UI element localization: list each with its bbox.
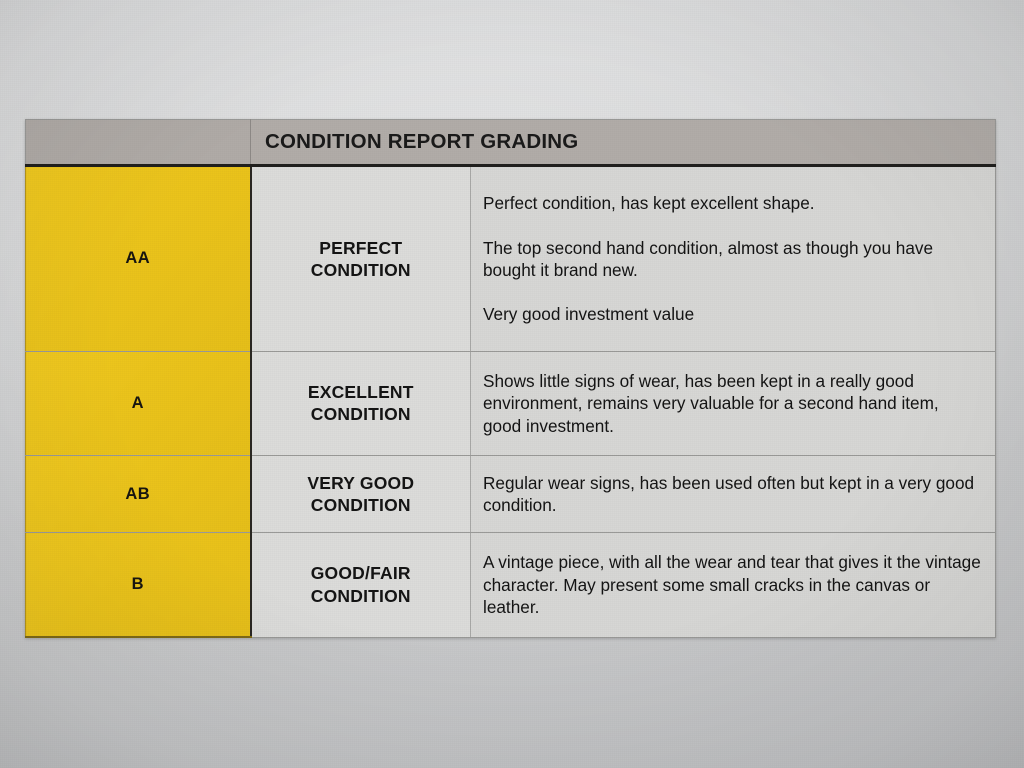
grade-badge-a: A xyxy=(26,351,251,455)
table-body: AA PERFECT CONDITION Perfect condition, … xyxy=(26,166,996,638)
condition-name-a: EXCELLENT CONDITION xyxy=(251,351,471,455)
description-b: A vintage piece, with all the wear and t… xyxy=(471,533,996,637)
table-row-ab: AB VERY GOOD CONDITION Regular wear sign… xyxy=(26,456,996,533)
header-grade-column-blank xyxy=(26,120,251,166)
grade-badge-ab: AB xyxy=(26,456,251,533)
description-b-paragraph-1: A vintage piece, with all the wear and t… xyxy=(483,551,981,618)
description-a: Shows little signs of wear, has been kep… xyxy=(471,351,996,455)
condition-name-aa: PERFECT CONDITION xyxy=(251,166,471,352)
table-row-b: B GOOD/FAIR CONDITION A vintage piece, w… xyxy=(26,533,996,637)
table-row-aa: AA PERFECT CONDITION Perfect condition, … xyxy=(26,166,996,352)
condition-name-b-line1: GOOD/FAIR xyxy=(252,562,471,584)
description-aa-paragraph-1: Perfect condition, has kept excellent sh… xyxy=(483,192,981,214)
grade-badge-aa: AA xyxy=(26,166,251,352)
description-ab-paragraph-1: Regular wear signs, has been used often … xyxy=(483,472,981,517)
photographed-sheet: CONDITION REPORT GRADING AA PERFECT COND… xyxy=(0,0,1024,768)
description-aa-paragraph-3: Very good investment value xyxy=(483,303,981,325)
condition-name-b: GOOD/FAIR CONDITION xyxy=(251,533,471,637)
condition-report-grading-table: CONDITION REPORT GRADING AA PERFECT COND… xyxy=(25,119,996,638)
condition-name-ab: VERY GOOD CONDITION xyxy=(251,456,471,533)
condition-name-aa-line2: CONDITION xyxy=(252,259,471,281)
condition-name-ab-line1: VERY GOOD xyxy=(252,472,471,494)
condition-name-aa-line1: PERFECT xyxy=(252,237,471,259)
condition-name-ab-line2: CONDITION xyxy=(252,494,471,516)
page-title: CONDITION REPORT GRADING xyxy=(251,120,996,166)
description-a-paragraph-1: Shows little signs of wear, has been kep… xyxy=(483,370,981,437)
description-aa-paragraph-2: The top second hand condition, almost as… xyxy=(483,237,981,282)
condition-name-a-line1: EXCELLENT xyxy=(252,381,471,403)
grade-badge-b: B xyxy=(26,533,251,637)
description-ab: Regular wear signs, has been used often … xyxy=(471,456,996,533)
description-aa: Perfect condition, has kept excellent sh… xyxy=(471,166,996,352)
condition-name-b-line2: CONDITION xyxy=(252,585,471,607)
table-row-a: A EXCELLENT CONDITION Shows little signs… xyxy=(26,351,996,455)
condition-name-a-line2: CONDITION xyxy=(252,403,471,425)
table-header-row: CONDITION REPORT GRADING xyxy=(26,120,996,166)
